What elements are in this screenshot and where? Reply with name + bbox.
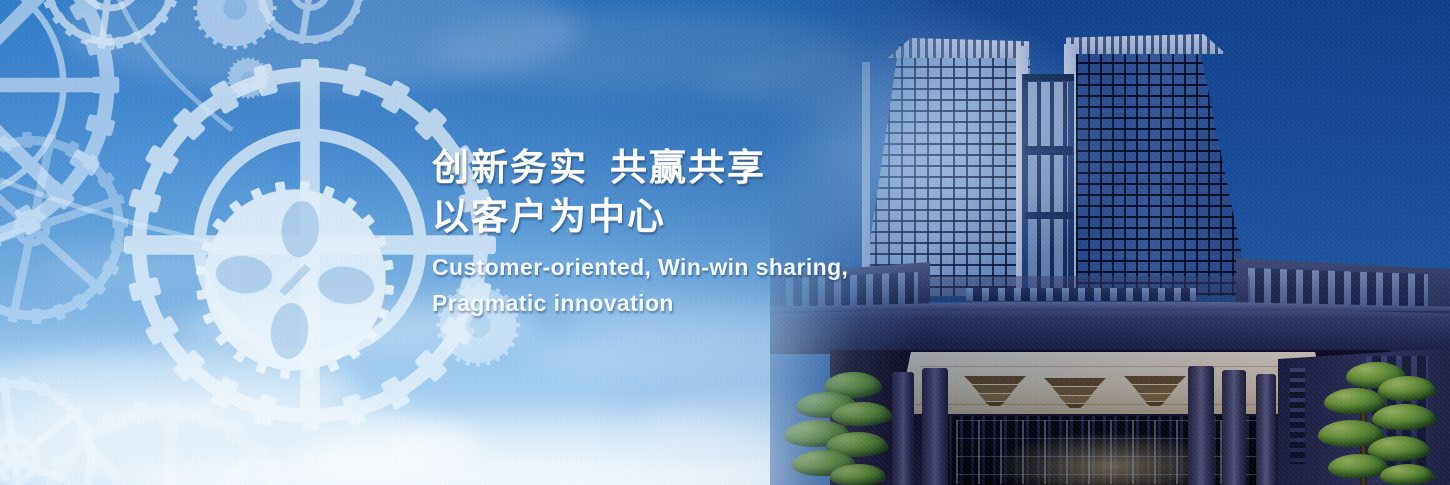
headline-chinese-line-2: 以客户为中心: [432, 192, 992, 241]
subtitle-line-1: Customer-oriented, Win-win sharing,: [432, 254, 848, 280]
headline-chinese-line-1: 创新务实共赢共享: [432, 143, 992, 192]
hero-banner: 创新务实共赢共享 以客户为中心 Customer-oriented, Win-w…: [0, 0, 1450, 485]
banner-copy: 创新务实共赢共享 以客户为中心 Customer-oriented, Win-w…: [432, 143, 992, 321]
headline-cn-part-b: 共赢共享: [610, 147, 766, 188]
subtitle-english: Customer-oriented, Win-win sharing, Prag…: [432, 249, 992, 321]
subtitle-line-2: Pragmatic innovation: [432, 285, 992, 321]
headline-cn-part-a: 创新务实: [432, 147, 588, 188]
